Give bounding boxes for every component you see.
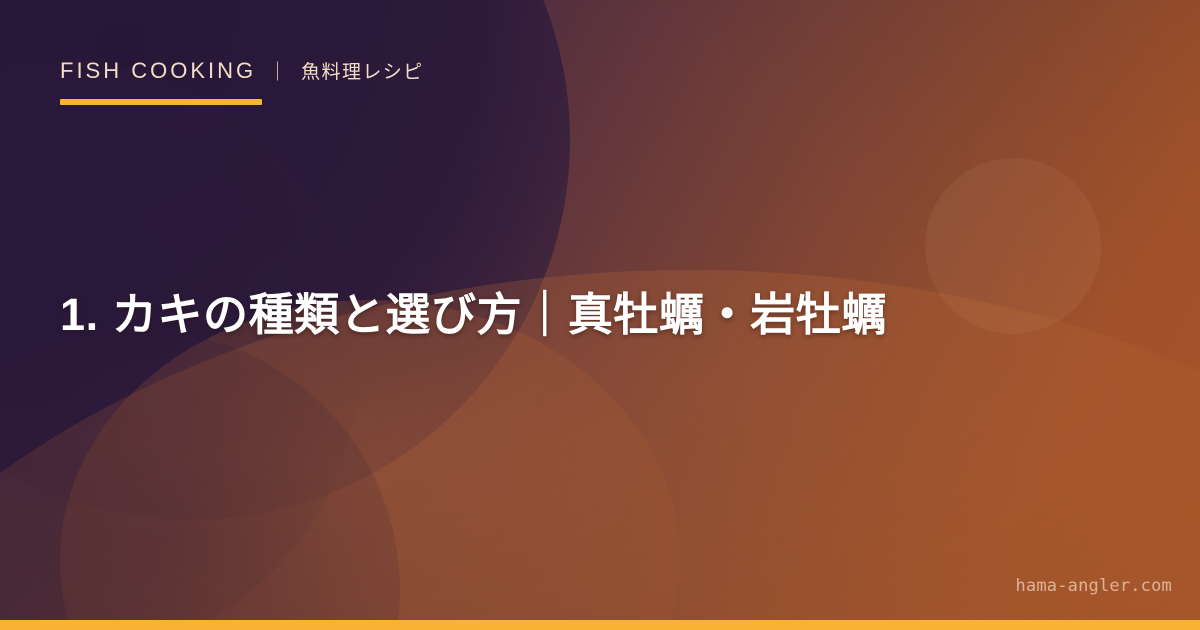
site-watermark: hama-angler.com: [1015, 576, 1172, 596]
og-image-card: FISH COOKING ｜ 魚料理レシピ 1. カキの種類と選び方｜真牡蠣・岩…: [0, 0, 1200, 630]
category-eyebrow: FISH COOKING ｜ 魚料理レシピ: [60, 57, 424, 84]
category-label-ja: 魚料理レシピ: [301, 57, 423, 84]
card-content: FISH COOKING ｜ 魚料理レシピ 1. カキの種類と選び方｜真牡蠣・岩…: [0, 0, 1200, 630]
page-title: 1. カキの種類と選び方｜真牡蠣・岩牡蠣: [60, 285, 1140, 344]
accent-underline-bar: [60, 99, 262, 105]
category-label-en: FISH COOKING: [60, 58, 256, 84]
eyebrow-separator: ｜: [268, 57, 287, 84]
footer-accent-bar: [0, 620, 1200, 630]
